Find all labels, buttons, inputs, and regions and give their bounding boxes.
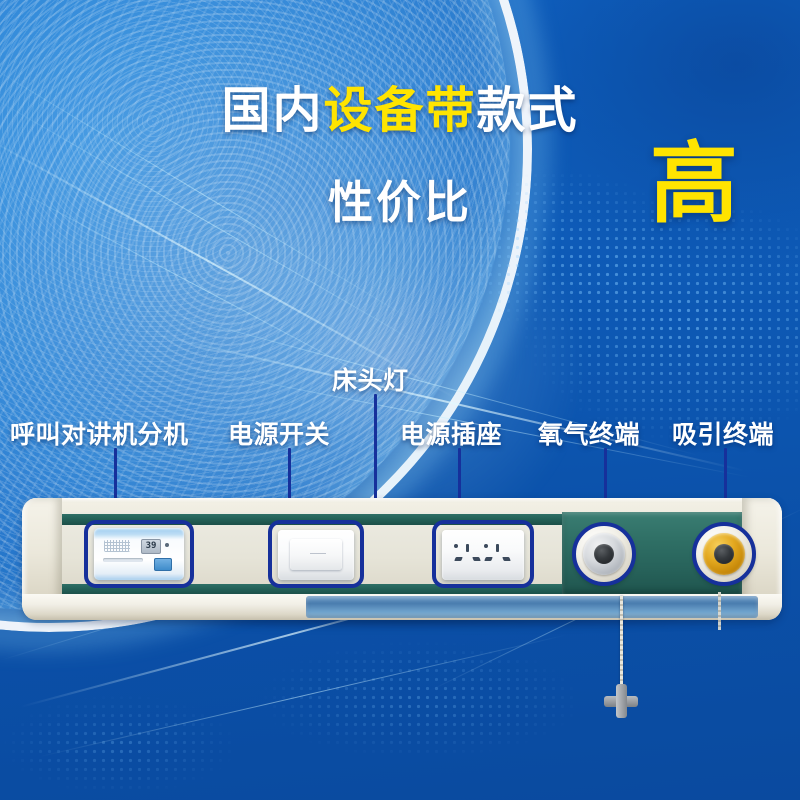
highlight-frame-power-switch [268,520,364,588]
highlight-frame-suction-terminal [692,522,756,586]
callout-label-bedside-lamp: 床头灯 [332,361,409,397]
nurse-call-pull-cord [620,596,623,688]
callout-label-power-socket: 电源插座 [400,415,502,451]
callout-label-oxygen-terminal: 氧气终端 [538,415,640,451]
bedside-lamp-diffuser [306,596,758,618]
headline-part-2: 设备带 [323,82,476,139]
suction-hose-cord [718,592,721,630]
callout-label-power-switch: 电源开关 [228,415,330,451]
callout-label-suction-terminal: 吸引终端 [672,415,774,451]
highlight-frame-oxygen-terminal [572,522,636,586]
subheadline: 性价比 [110,166,690,231]
product-banner: 国内设备带款式 性价比 高 呼叫对讲机分机 电源开关 床头灯 电源插座 氧气终端… [0,0,800,800]
highlight-frame-power-socket [432,520,534,588]
emphasis-word: 高 [650,140,738,228]
bed-head-unit: 39 [22,498,782,626]
highlight-frame-intercom [84,520,194,588]
headline-part-1: 国内 [221,82,323,139]
headline: 国内设备带款式 [0,86,800,135]
callout-label-intercom: 呼叫对讲机分机 [10,415,189,451]
cord-hook [604,684,638,718]
headline-part-3: 款式 [477,82,579,139]
